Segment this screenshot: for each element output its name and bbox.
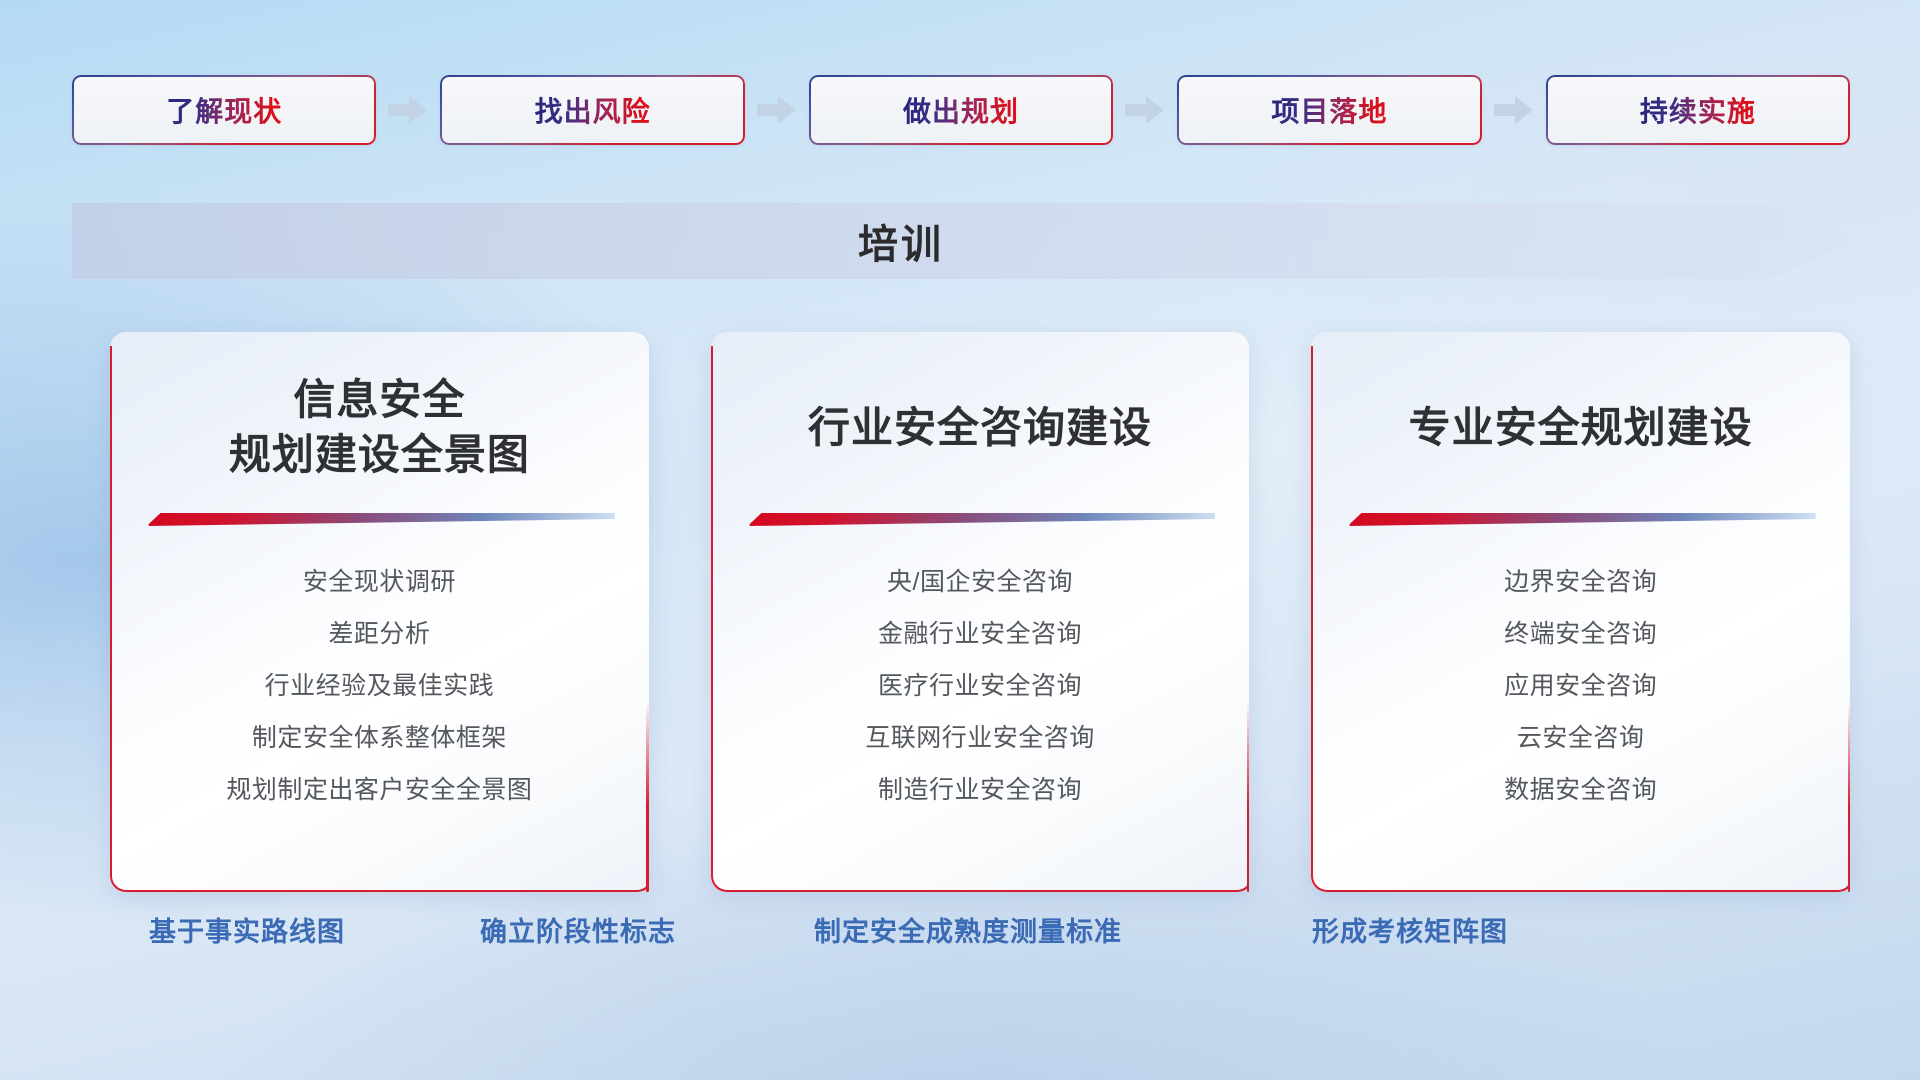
arrow-right-icon [1125, 95, 1165, 125]
step-label: 做出规划 [903, 90, 1019, 130]
card-list-item: 金融行业安全咨询 [745, 608, 1216, 660]
card-title-line: 信息安全 [144, 373, 615, 428]
card-title: 专业安全规划建设 [1345, 372, 1816, 484]
capability-card-1[interactable]: 信息安全规划建设全景图安全现状调研差距分析行业经验及最佳实践制定安全体系整体框架… [110, 332, 649, 892]
card-accent-line [646, 702, 649, 892]
card-item-list: 央/国企安全咨询金融行业安全咨询医疗行业安全咨询互联网行业安全咨询制造行业安全咨… [745, 548, 1216, 816]
card-list-item: 差距分析 [144, 608, 615, 660]
card-item-list: 安全现状调研差距分析行业经验及最佳实践制定安全体系整体框架规划制定出客户安全全景… [144, 548, 615, 816]
card-list-item: 应用安全咨询 [1345, 660, 1816, 712]
step-label: 项目落地 [1271, 90, 1387, 130]
footer-label-3: 制定安全成熟度测量标准 [814, 910, 1122, 949]
card-accent-line [1848, 702, 1851, 892]
step-box-3[interactable]: 做出规划 [809, 75, 1113, 145]
card-title-line: 行业安全咨询建设 [745, 401, 1216, 456]
arrow-right-icon [757, 95, 797, 125]
step-box-2[interactable]: 找出风险 [440, 75, 744, 145]
card-list-item: 制造行业安全咨询 [745, 764, 1216, 816]
divider-gradient-icon [144, 506, 615, 532]
step-box-1[interactable]: 了解现状 [72, 75, 376, 145]
divider-gradient-icon [745, 506, 1216, 532]
card-list-item: 安全现状调研 [144, 556, 615, 608]
capability-card-2[interactable]: 行业安全咨询建设央/国企安全咨询金融行业安全咨询医疗行业安全咨询互联网行业安全咨… [711, 332, 1250, 892]
step-arrow-icon [1482, 90, 1546, 130]
card-title-line: 专业安全规划建设 [1345, 401, 1816, 456]
step-label: 持续实施 [1640, 90, 1756, 130]
card-list-item: 医疗行业安全咨询 [745, 660, 1216, 712]
step-box-5[interactable]: 持续实施 [1546, 75, 1850, 145]
card-title-line: 规划建设全景图 [144, 428, 615, 483]
training-banner: 培训 [72, 195, 1850, 287]
step-arrow-icon [1113, 90, 1177, 130]
footer-outcome-labels: 基于事实路线图确立阶段性标志制定安全成熟度测量标准形成考核矩阵图 [0, 910, 1920, 970]
capability-cards: 信息安全规划建设全景图安全现状调研差距分析行业经验及最佳实践制定安全体系整体框架… [110, 332, 1850, 892]
card-list-item: 边界安全咨询 [1345, 556, 1816, 608]
card-list-item: 终端安全咨询 [1345, 608, 1816, 660]
card-title: 行业安全咨询建设 [745, 372, 1216, 484]
card-divider [745, 506, 1216, 532]
step-box-4[interactable]: 项目落地 [1177, 75, 1481, 145]
footer-label-1: 基于事实路线图 [149, 910, 345, 949]
card-divider [1345, 506, 1816, 532]
capability-card-3[interactable]: 专业安全规划建设边界安全咨询终端安全咨询应用安全咨询云安全咨询数据安全咨询 [1311, 332, 1850, 892]
arrow-right-icon [388, 95, 428, 125]
card-title: 信息安全规划建设全景图 [144, 372, 615, 484]
card-divider [144, 506, 615, 532]
card-list-item: 数据安全咨询 [1345, 764, 1816, 816]
banner-title: 培训 [72, 195, 1850, 287]
footer-label-4: 形成考核矩阵图 [1312, 910, 1508, 949]
card-list-item: 云安全咨询 [1345, 712, 1816, 764]
step-arrow-icon [376, 90, 440, 130]
arrow-right-icon [1494, 95, 1534, 125]
process-step-bar: 了解现状找出风险做出规划项目落地持续实施 [72, 75, 1850, 145]
step-arrow-icon [745, 90, 809, 130]
divider-gradient-icon [1345, 506, 1816, 532]
step-label: 了解现状 [166, 90, 282, 130]
card-accent-line [1247, 702, 1250, 892]
card-list-item: 行业经验及最佳实践 [144, 660, 615, 712]
card-list-item: 互联网行业安全咨询 [745, 712, 1216, 764]
step-label: 找出风险 [535, 90, 651, 130]
card-list-item: 制定安全体系整体框架 [144, 712, 615, 764]
card-list-item: 央/国企安全咨询 [745, 556, 1216, 608]
card-item-list: 边界安全咨询终端安全咨询应用安全咨询云安全咨询数据安全咨询 [1345, 548, 1816, 816]
card-list-item: 规划制定出客户安全全景图 [144, 764, 615, 816]
footer-label-2: 确立阶段性标志 [480, 910, 676, 949]
